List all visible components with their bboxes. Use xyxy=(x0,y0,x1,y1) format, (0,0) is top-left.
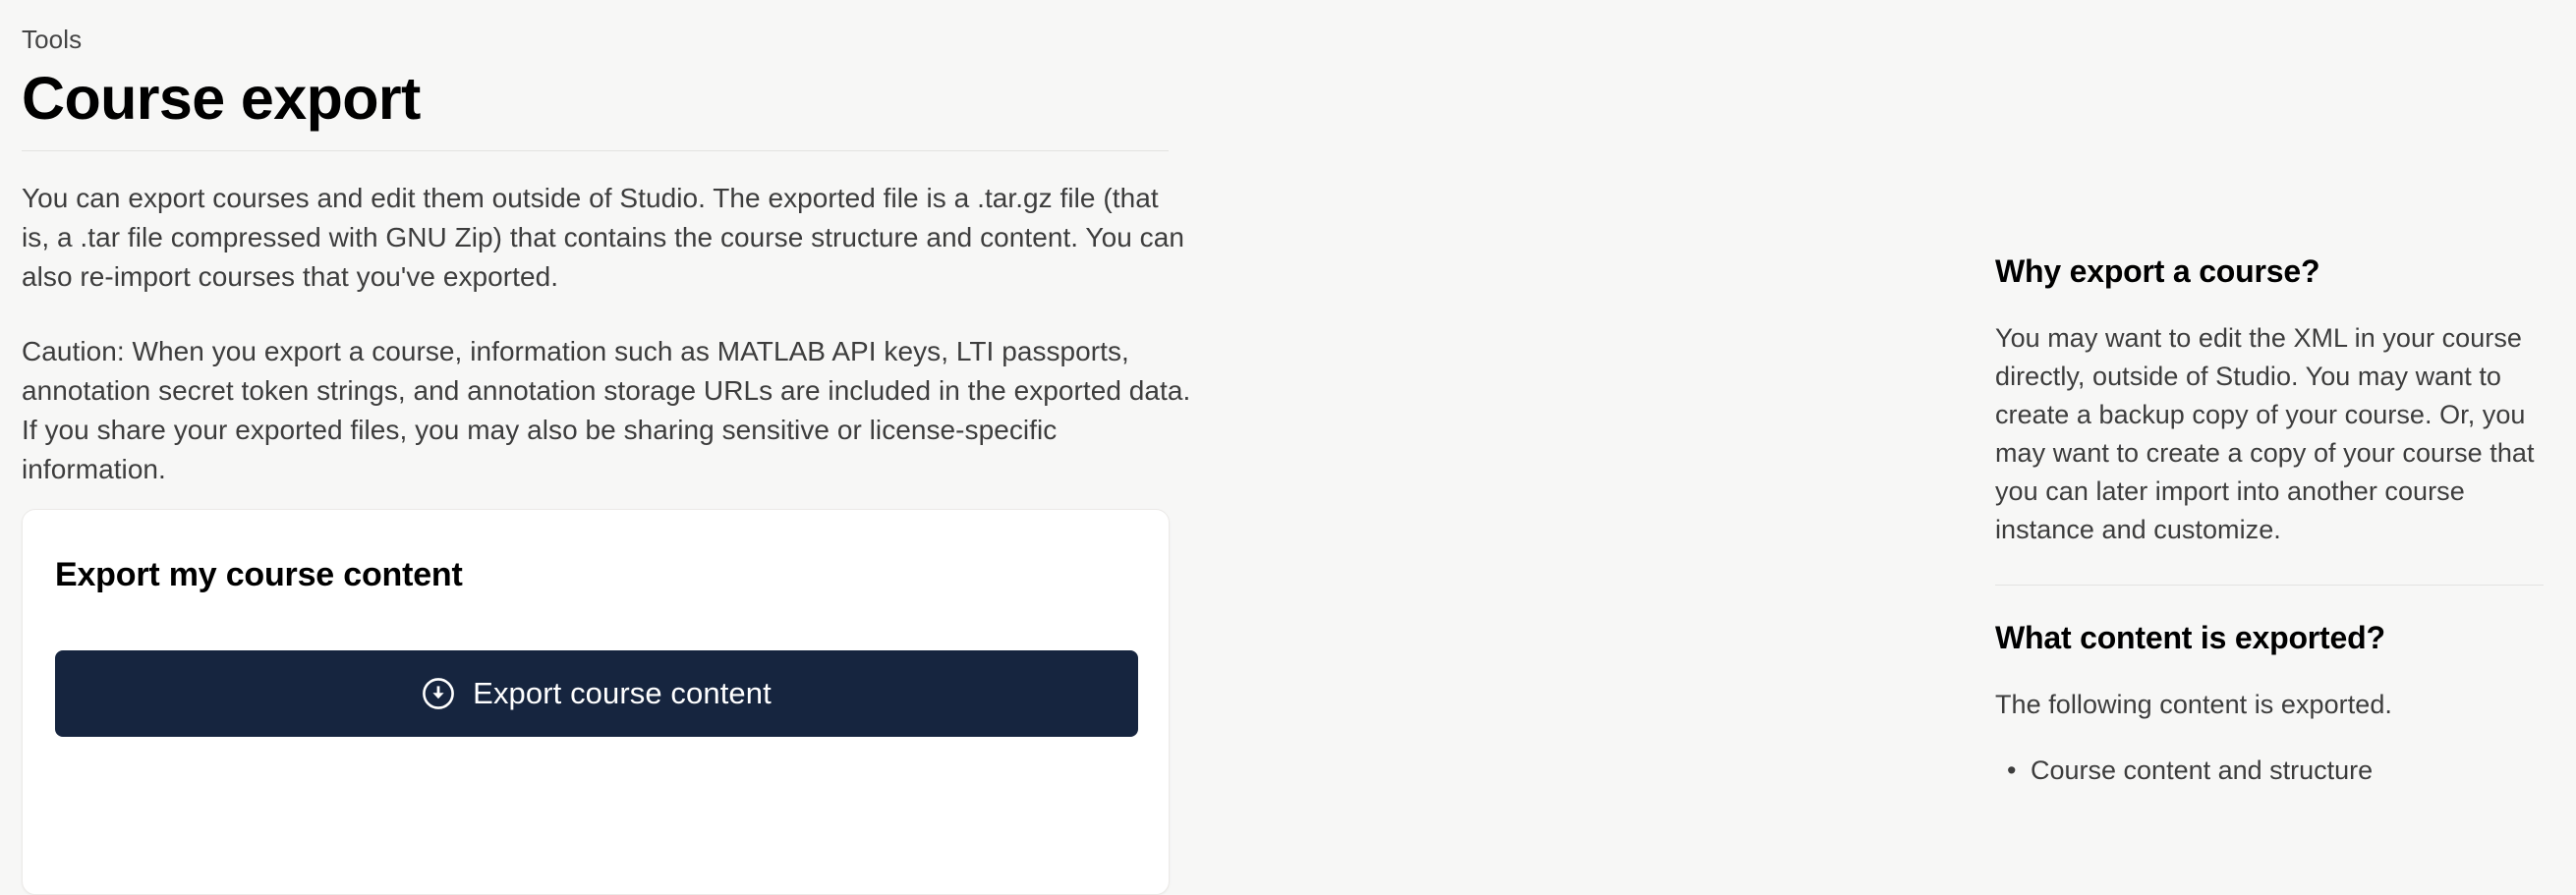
export-course-content-button[interactable]: Export course content xyxy=(55,650,1138,737)
intro-paragraph-1: You can export courses and edit them out… xyxy=(22,179,1191,297)
main-content-column: Tools Course export You can export cours… xyxy=(0,0,1975,517)
sidebar-section-why-export: Why export a course? You may want to edi… xyxy=(1995,252,2560,549)
sidebar-body-what-content: The following content is exported. xyxy=(1995,686,2560,724)
sidebar-heading-what-content: What content is exported? xyxy=(1995,619,2560,656)
title-divider xyxy=(22,150,1169,151)
breadcrumb[interactable]: Tools xyxy=(22,0,1943,55)
help-sidebar: Why export a course? You may want to edi… xyxy=(1995,0,2576,790)
sidebar-divider xyxy=(1995,585,2544,586)
download-circle-icon xyxy=(422,677,455,710)
export-card: Export my course content Export course c… xyxy=(22,509,1170,895)
export-card-title: Export my course content xyxy=(55,555,1169,594)
sidebar-section-what-content: What content is exported? The following … xyxy=(1995,619,2560,790)
export-button-label: Export course content xyxy=(473,677,772,710)
intro-paragraph-2: Caution: When you export a course, infor… xyxy=(22,332,1191,489)
course-export-page: Tools Course export You can export cours… xyxy=(0,0,2576,889)
sidebar-heading-why-export: Why export a course? xyxy=(1995,252,2560,290)
list-item: Course content and structure xyxy=(2031,752,2560,790)
page-title: Course export xyxy=(22,64,1943,133)
sidebar-body-why-export: You may want to edit the XML in your cou… xyxy=(1995,319,2560,549)
exported-content-list: Course content and structure xyxy=(1995,752,2560,790)
